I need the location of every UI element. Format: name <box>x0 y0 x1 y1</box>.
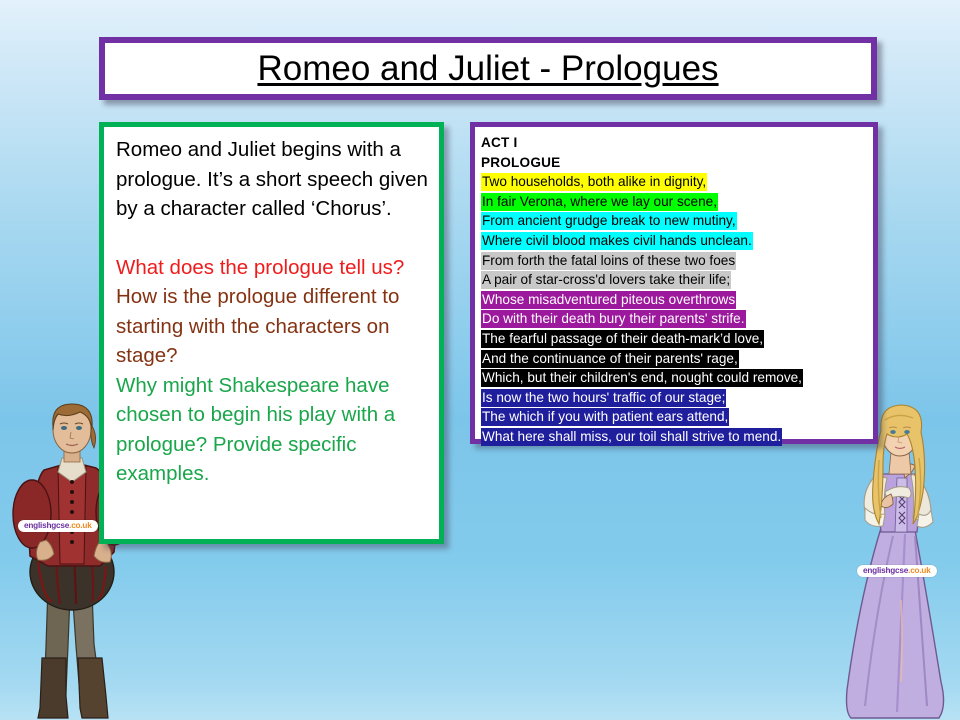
prologue-line-text: Do with their death bury their parents' … <box>481 310 746 328</box>
prologue-line: The which if you with patient ears atten… <box>481 407 873 427</box>
prologue-lines: Two households, both alike in dignity,In… <box>481 172 873 446</box>
prologue-line-text: From ancient grudge break to new mutiny, <box>481 212 737 230</box>
prologue-line: Two households, both alike in dignity, <box>481 172 873 192</box>
prologue-line-text: The fearful passage of their death-mark’… <box>481 330 764 348</box>
prologue-line-text: And the continuance of their parents' ra… <box>481 350 739 368</box>
watermark-tld: .co.uk <box>908 566 930 575</box>
watermark-brand: englishgcse <box>863 566 908 575</box>
prologue-line: A pair of star-cross'd lovers take their… <box>481 270 873 290</box>
watermark-left: englishgcse.co.uk <box>18 520 98 532</box>
notes-question-3: Why might Shakespeare have chosen to beg… <box>116 371 430 489</box>
juliet-figure-svg <box>835 400 960 720</box>
page-title: Romeo and Juliet - Prologues <box>257 49 718 89</box>
prologue-line-text: Whose misadventured piteous overthrows <box>481 291 736 309</box>
prologue-line: From ancient grudge break to new mutiny, <box>481 211 873 231</box>
prologue-line-text: The which if you with patient ears atten… <box>481 408 729 426</box>
prologue-line-text: What here shall miss, our toil shall str… <box>481 428 782 446</box>
prologue-text-box: ACT I PROLOGUE Two households, both alik… <box>470 122 878 444</box>
prologue-line: Which, but their children's end, nought … <box>481 368 873 388</box>
prologue-line-text: Where civil blood makes civil hands uncl… <box>481 232 753 250</box>
prologue-line-text: Is now the two hours' traffic of our sta… <box>481 389 726 407</box>
prologue-line: Do with their death bury their parents' … <box>481 309 873 329</box>
prologue-line-text: In fair Verona, where we lay our scene, <box>481 193 718 211</box>
prologue-line-text: Two households, both alike in dignity, <box>481 173 707 191</box>
prologue-line: Is now the two hours' traffic of our sta… <box>481 388 873 408</box>
juliet-illustration: englishgcse.co.uk <box>835 400 960 720</box>
notes-text-box: Romeo and Juliet begins with a prologue.… <box>99 122 444 544</box>
prologue-line: In fair Verona, where we lay our scene, <box>481 192 873 212</box>
notes-spacer <box>116 224 430 253</box>
prologue-line: The fearful passage of their death-mark’… <box>481 329 873 349</box>
prologue-line-text: Which, but their children's end, nought … <box>481 369 803 387</box>
notes-paragraph-intro: Romeo and Juliet begins with a prologue.… <box>116 135 430 224</box>
slide-canvas: englishgcse.co.uk <box>0 0 960 720</box>
watermark-right: englishgcse.co.uk <box>857 565 937 577</box>
prologue-line-text: A pair of star-cross'd lovers take their… <box>481 271 731 289</box>
act-label: ACT I <box>481 133 873 153</box>
prologue-line: Whose misadventured piteous overthrows <box>481 290 873 310</box>
slide-title-box: Romeo and Juliet - Prologues <box>99 37 877 100</box>
watermark-tld: .co.uk <box>69 521 91 530</box>
prologue-line: What here shall miss, our toil shall str… <box>481 427 873 447</box>
prologue-line: From forth the fatal loins of these two … <box>481 251 873 271</box>
prologue-line-text: From forth the fatal loins of these two … <box>481 252 736 270</box>
watermark-brand: englishgcse <box>24 521 69 530</box>
notes-question-1: What does the prologue tell us? <box>116 253 430 283</box>
prologue-label: PROLOGUE <box>481 153 873 173</box>
notes-question-2: How is the prologue different to startin… <box>116 282 430 371</box>
prologue-line: And the continuance of their parents' ra… <box>481 349 873 369</box>
prologue-line: Where civil blood makes civil hands uncl… <box>481 231 873 251</box>
